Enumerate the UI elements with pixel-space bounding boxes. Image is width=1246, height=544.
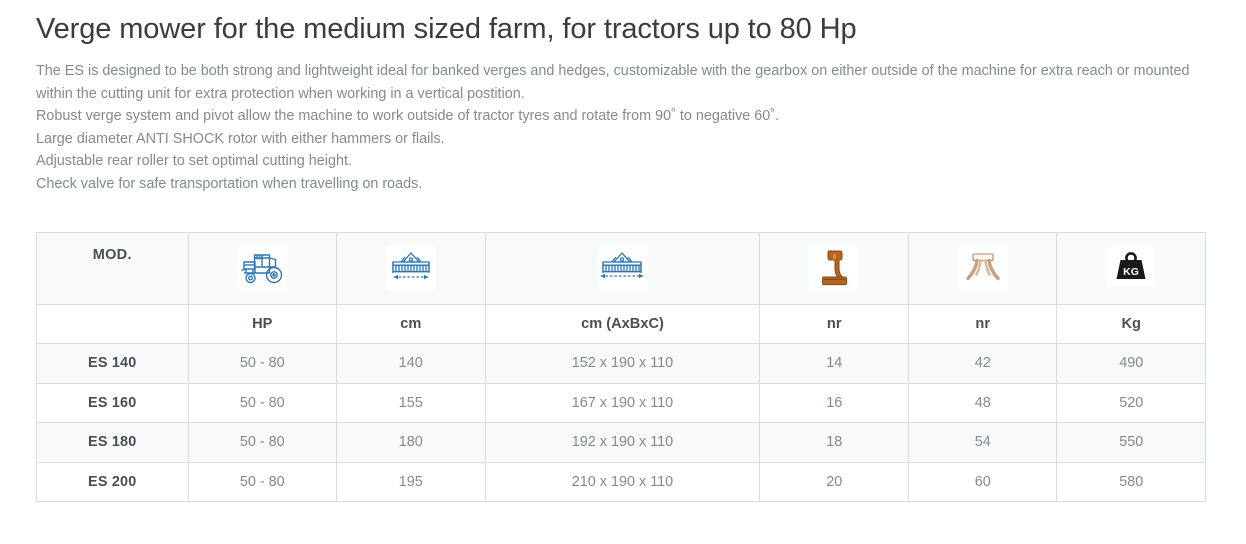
cell-hp: 50 - 80 [188,423,337,463]
cell-dimensions: 210 x 190 x 110 [485,462,760,502]
product-spec-page: Verge mower for the medium sized farm, f… [0,0,1246,544]
cell-hp: 50 - 80 [188,383,337,423]
unit-cell-dimensions: cm (AxBxC) [485,305,760,344]
svg-text:KG: KG [1123,266,1139,278]
description-line-5: Check valve for safe transportation when… [36,173,1196,196]
cell-width: 140 [337,344,486,384]
cell-hp: 50 - 80 [188,344,337,384]
hammer-icon [809,246,859,290]
table-row: ES 180 50 - 80 180 192 x 190 x 110 18 54… [37,423,1206,463]
cell-model: ES 200 [37,462,189,502]
mower-dimensions-icon [597,246,647,290]
unit-cell-mod [37,305,189,344]
hammer-header-cell [760,233,909,305]
cell-weight: 550 [1057,423,1206,463]
unit-cell-flails: nr [908,305,1057,344]
specifications-table: MOD. [36,232,1206,502]
cell-flails: 60 [908,462,1057,502]
cell-flails: 42 [908,344,1057,384]
product-description: The ES is designed to be both strong and… [36,60,1196,195]
table-icon-header-row: MOD. [37,233,1206,305]
flail-icon [958,246,1008,290]
table-row: ES 140 50 - 80 140 152 x 190 x 110 14 42… [37,344,1206,384]
cell-model: ES 160 [37,383,189,423]
cell-hammers: 20 [760,462,909,502]
cell-width: 195 [337,462,486,502]
unit-cell-weight: Kg [1057,305,1206,344]
description-line-3: Large diameter ANTI SHOCK rotor with eit… [36,128,1196,151]
flail-header-cell [908,233,1057,305]
unit-cell-cm: cm [337,305,486,344]
cell-weight: 520 [1057,383,1206,423]
mower-dimensions-header-cell [485,233,760,305]
cell-width: 180 [337,423,486,463]
cell-hammers: 18 [760,423,909,463]
page-title: Verge mower for the medium sized farm, f… [36,13,857,46]
table-row: ES 160 50 - 80 155 167 x 190 x 110 16 48… [37,383,1206,423]
mod-header-label: MOD. [37,233,189,305]
cell-dimensions: 192 x 190 x 110 [485,423,760,463]
tractor-header-cell [188,233,337,305]
cell-width: 155 [337,383,486,423]
cell-weight: 580 [1057,462,1206,502]
cell-dimensions: 167 x 190 x 110 [485,383,760,423]
cell-model: ES 140 [37,344,189,384]
cell-model: ES 180 [37,423,189,463]
description-line-1: The ES is designed to be both strong and… [36,60,1196,105]
unit-cell-hp: HP [188,305,337,344]
cell-hp: 50 - 80 [188,462,337,502]
cell-flails: 54 [908,423,1057,463]
weight-kg-icon: KG [1107,246,1155,286]
cell-flails: 48 [908,383,1057,423]
mower-width-header-cell [337,233,486,305]
table-row: ES 200 50 - 80 195 210 x 190 x 110 20 60… [37,462,1206,502]
cell-dimensions: 152 x 190 x 110 [485,344,760,384]
unit-cell-hammers: nr [760,305,909,344]
description-line-2: Robust verge system and pivot allow the … [36,105,1196,128]
cell-weight: 490 [1057,344,1206,384]
mower-width-icon [386,246,436,290]
cell-hammers: 14 [760,344,909,384]
table-unit-header-row: HP cm cm (AxBxC) nr nr Kg [37,305,1206,344]
tractor-icon [237,246,287,290]
weight-header-cell: KG [1057,233,1206,305]
cell-hammers: 16 [760,383,909,423]
description-line-4: Adjustable rear roller to set optimal cu… [36,150,1196,173]
